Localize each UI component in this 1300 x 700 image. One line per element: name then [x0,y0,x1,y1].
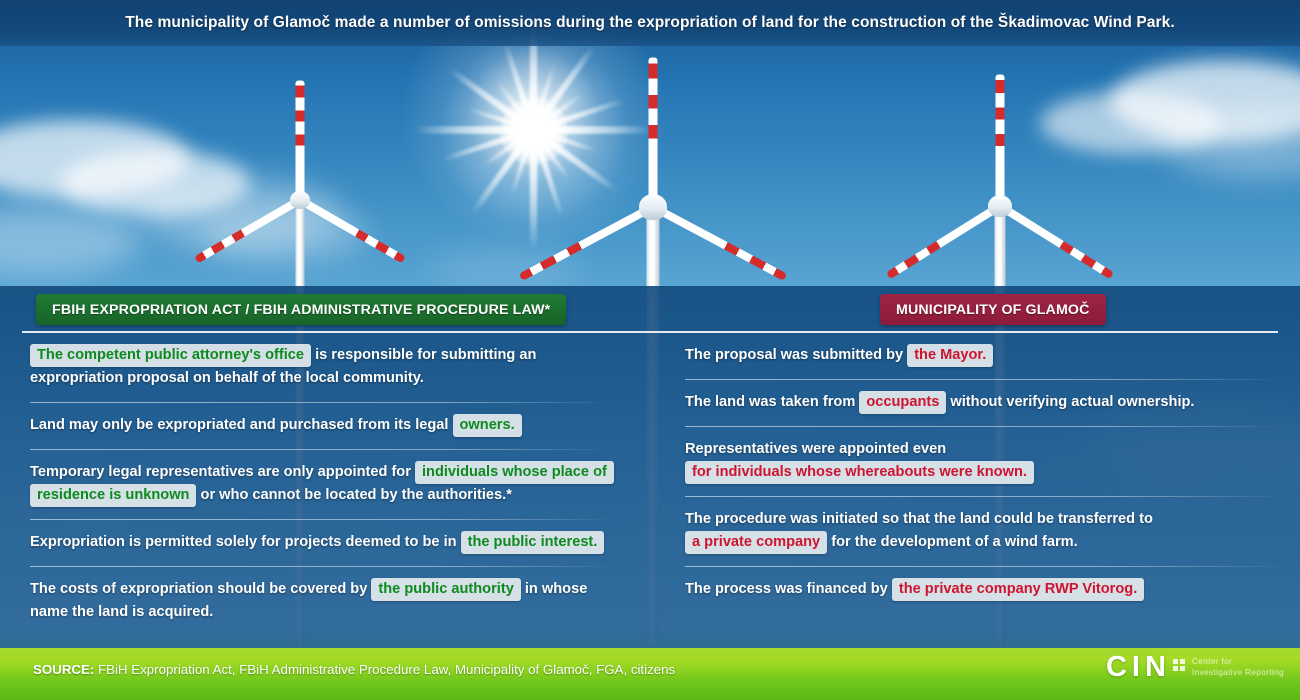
column-divider-gap [645,332,675,648]
turbine-blade [194,197,302,264]
cin-logo-wordmark: CIN [1106,652,1171,682]
row-text-pre: The process was financed by [685,581,892,597]
row-text-pre: Land may only be expropriated and purcha… [30,417,453,433]
row-highlight: the private company RWP Vitorog. [892,578,1144,601]
comparison-row: The procedure was initiated so that the … [685,496,1282,566]
turbine-blade [298,197,406,264]
column-municipality: The proposal was submitted by the Mayor.… [675,332,1300,648]
row-text-mid: for the development of a wind farm. [827,534,1078,550]
row-highlight: the public interest. [461,531,605,554]
row-highlight: The competent public attorney's office [30,344,311,367]
row-text-post: or who cannot be located by the authorit… [196,487,511,503]
turbine-nacelle [988,195,1012,217]
cin-logo-tagline: Center for Investigative Reporting [1192,656,1284,678]
row-highlight: the Mayor. [907,344,993,367]
row-text-pre: Representatives were appointed even [685,441,946,457]
source-line: SOURCE: FBiH Expropriation Act, FBiH Adm… [33,662,675,677]
cin-tagline-line1: Center for [1192,656,1284,667]
turbine-blade [651,203,787,280]
row-text-pre: The proposal was submitted by [685,347,907,363]
row-highlight: for individuals whose whereabouts were k… [685,461,1034,484]
row-text-pre: Temporary legal representatives are only… [30,464,415,480]
cin-squares-icon [1173,659,1187,671]
row-highlight: a private company [685,531,827,554]
turbine-nacelle [639,194,668,220]
source-label: SOURCE: [33,662,94,677]
turbine-blade [519,203,655,280]
cin-tagline-line2: Investigative Reporting [1192,667,1284,678]
comparison-row: Land may only be expropriated and purcha… [30,402,615,449]
comparison-row: The competent public attorney's office i… [30,332,615,402]
row-text-pre: Expropriation is permitted solely for pr… [30,534,461,550]
comparison-row: Representatives were appointed even for … [685,426,1282,496]
comparison-row: The land was taken from occupants withou… [685,379,1282,426]
comparison-row: Expropriation is permitted solely for pr… [30,519,615,566]
comparison-columns: The competent public attorney's office i… [0,332,1300,648]
row-highlight: the public authority [371,578,520,601]
row-text-mid: without verifying actual ownership. [946,394,1194,410]
source-text: FBiH Expropriation Act, FBiH Administrat… [94,662,675,677]
panel-header: FBIH EXPROPRIATION ACT / FBIH ADMINISTRA… [0,286,1300,332]
turbine-nacelle [290,191,310,209]
row-text-pre: The land was taken from [685,394,859,410]
badge-municipality-column: MUNICIPALITY OF GLAMOČ [880,294,1106,325]
comparison-panel: FBIH EXPROPRIATION ACT / FBIH ADMINISTRA… [0,286,1300,648]
row-text-pre: The costs of expropriation should be cov… [30,581,371,597]
infographic-stage: The municipality of Glamoč made a number… [0,0,1300,700]
page-title: The municipality of Glamoč made a number… [125,14,1175,32]
turbine-blade [296,81,305,201]
turbine-blade [996,75,1005,207]
row-text-pre: The procedure was initiated so that the … [685,511,1153,527]
comparison-row: The process was financed by the private … [685,566,1282,613]
row-highlight-2: residence is unknown [30,484,196,507]
title-bar: The municipality of Glamoč made a number… [0,0,1300,46]
row-highlight: occupants [859,391,946,414]
cin-logo: CIN Center for Investigative Reporting [1106,652,1284,682]
turbine-blade [998,203,1114,280]
column-law: The competent public attorney's office i… [0,332,645,648]
comparison-row: Temporary legal representatives are only… [30,449,615,519]
comparison-row: The proposal was submitted by the Mayor. [685,332,1282,379]
badge-law-column: FBIH EXPROPRIATION ACT / FBIH ADMINISTRA… [36,294,566,325]
row-highlight: individuals whose place of [415,461,614,484]
comparison-row: The costs of expropriation should be cov… [30,566,615,636]
row-highlight: owners. [453,414,522,437]
turbine-blade [649,58,658,208]
turbine-blade [886,203,1002,280]
